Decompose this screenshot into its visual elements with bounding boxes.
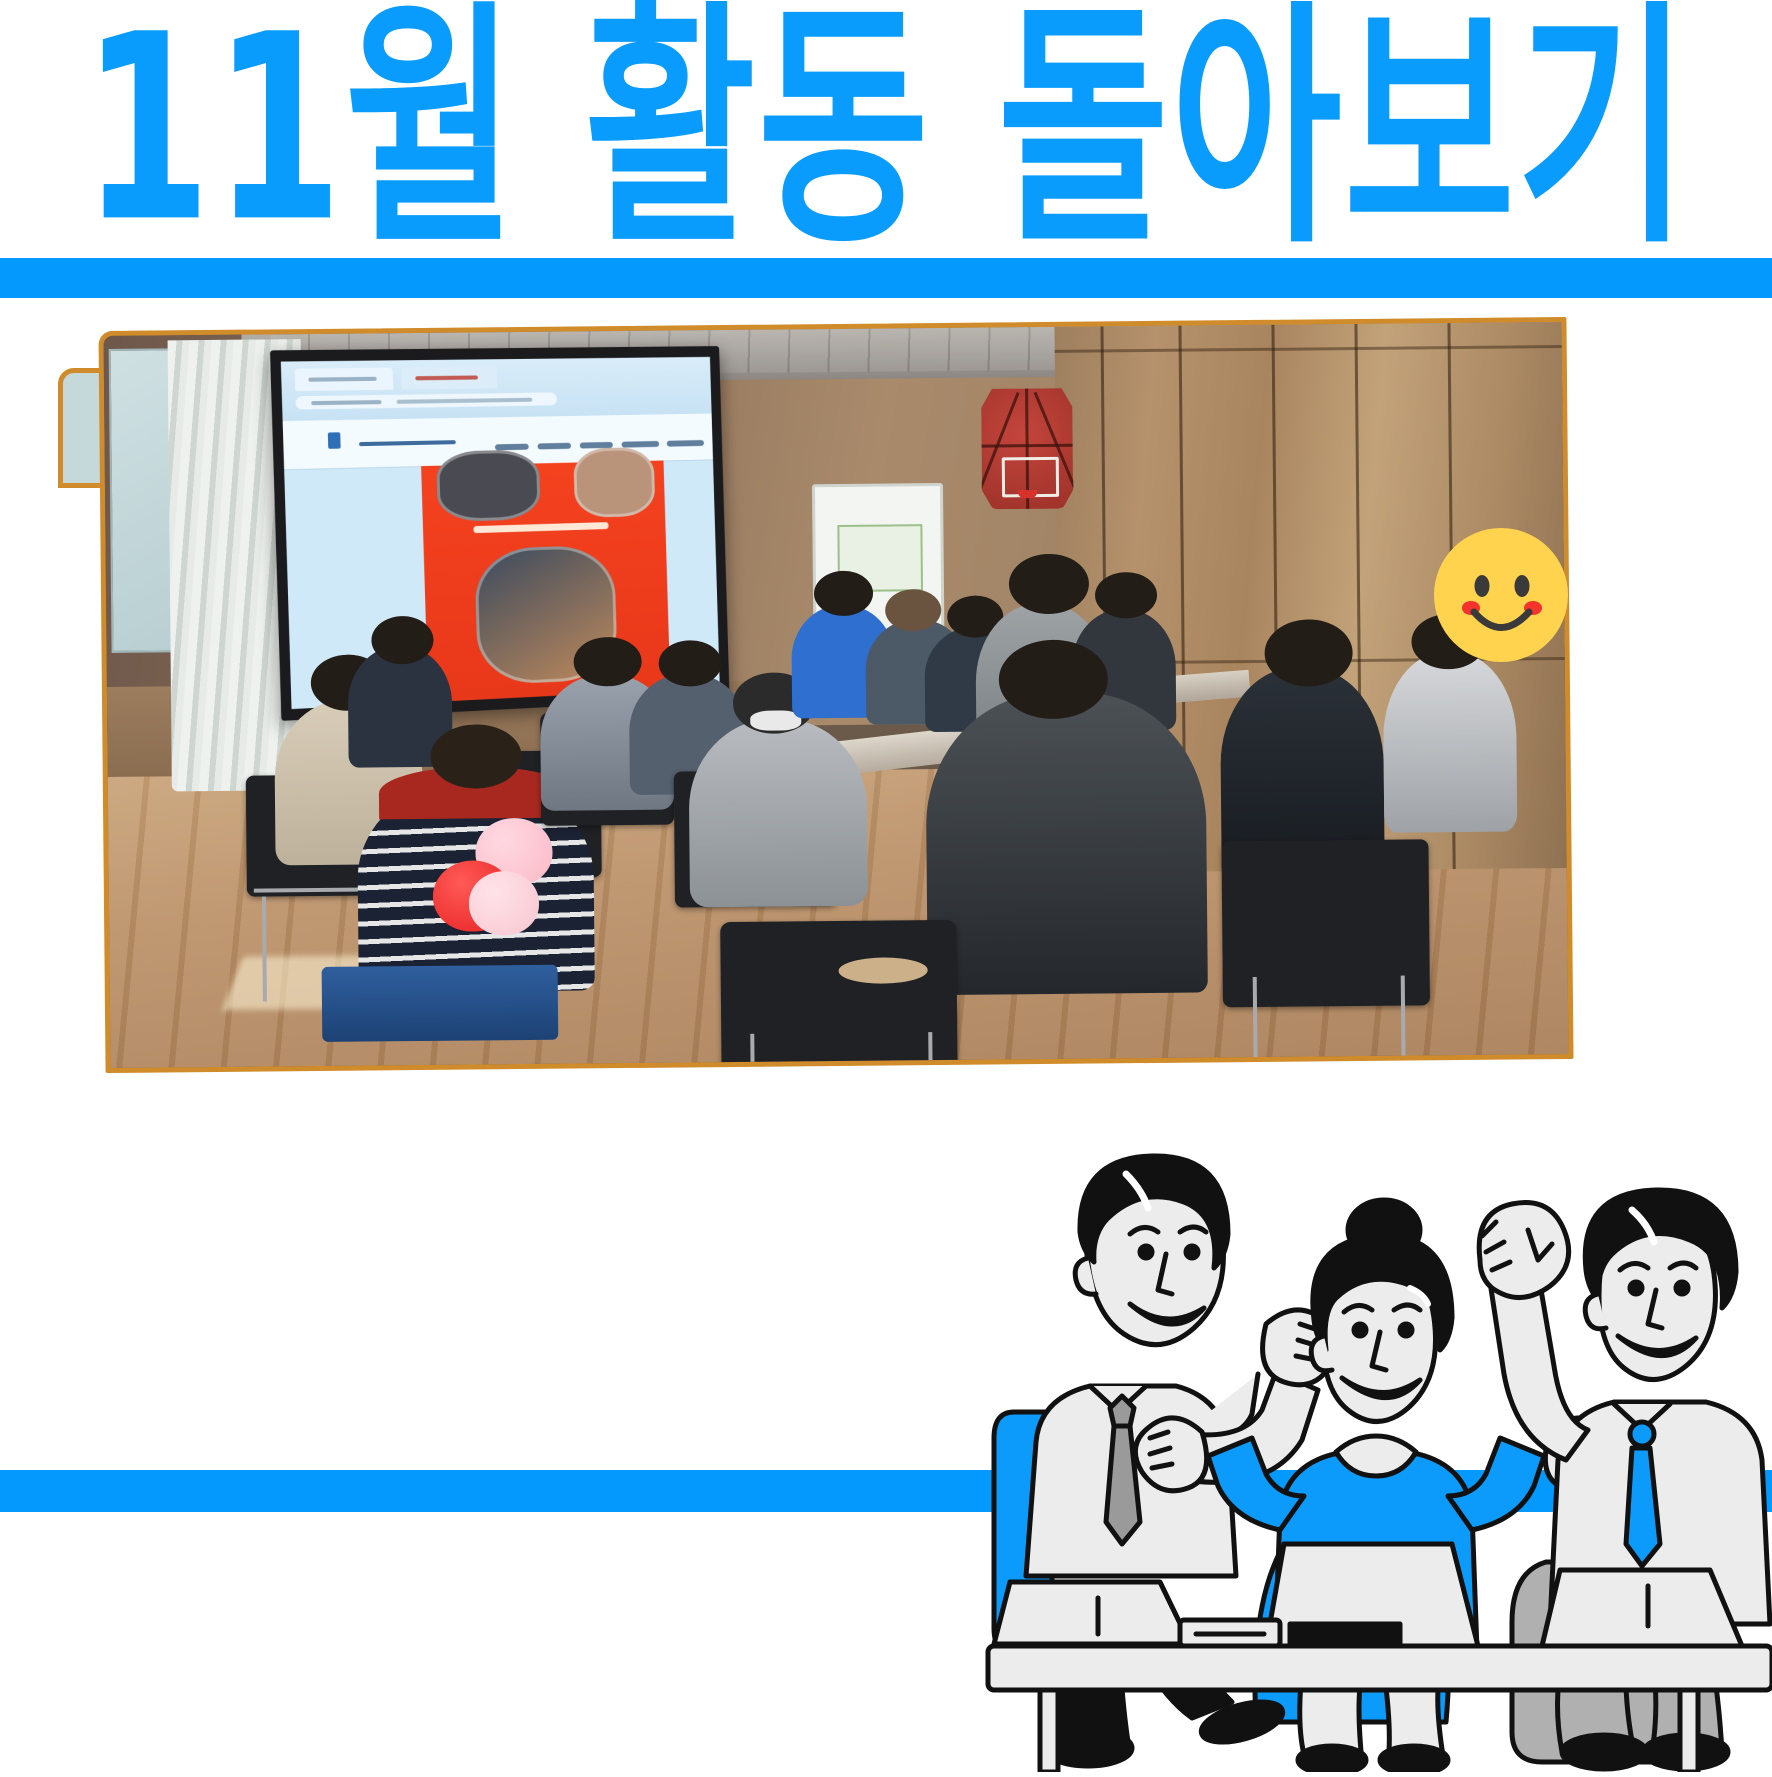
hoop-rim	[1018, 490, 1036, 499]
shoe-center-left	[1298, 1746, 1366, 1772]
site-nav-item	[621, 441, 659, 448]
smiley-eye-right	[1515, 575, 1530, 597]
shoe-center-right	[1380, 1746, 1448, 1772]
top-blue-divider	[0, 258, 1772, 298]
smiley-face-circle	[1434, 528, 1568, 662]
activity-photo	[98, 317, 1573, 1073]
photo-card	[58, 338, 1570, 1080]
smiley-face-sticker	[1434, 528, 1568, 662]
desk-leg-left	[1040, 1690, 1058, 1772]
attendee-far-right	[1382, 651, 1517, 833]
site-nav-item	[537, 443, 571, 450]
tablet-on-desk	[1290, 1624, 1400, 1646]
browser-chrome	[280, 357, 711, 422]
laptop-right	[1542, 1570, 1742, 1646]
fist-center-left	[1135, 1418, 1206, 1491]
page-title: 11월 활동 돌아보기	[82, 1, 1690, 258]
eye-center-2	[1400, 1324, 1412, 1336]
cheering-team-illustration	[980, 1112, 1772, 1772]
arm-right	[1490, 1272, 1588, 1460]
site-nav-item	[667, 440, 704, 447]
attendee-foreground	[925, 691, 1209, 994]
title-area: 11월 활동 돌아보기	[0, 0, 1772, 258]
eye-right-1	[1630, 1282, 1642, 1294]
basketball-hoop	[981, 388, 1074, 509]
promo-caption	[473, 522, 609, 533]
balloon-lightpink	[468, 871, 540, 936]
eye-left-1	[1140, 1246, 1152, 1258]
eye-center-1	[1354, 1324, 1366, 1336]
browser-tab-1	[294, 367, 393, 391]
eye-left-2	[1186, 1246, 1198, 1258]
shoe-right-left	[1562, 1735, 1646, 1769]
blue-stool	[321, 965, 558, 1042]
photo-scene	[98, 317, 1573, 1073]
eye-right-2	[1676, 1282, 1688, 1294]
laptop-left	[994, 1582, 1190, 1644]
desk-leg-right	[1680, 1690, 1698, 1772]
hair-bun-center	[1348, 1200, 1420, 1260]
smiley-eye-left	[1475, 575, 1490, 597]
keyboard-on-desk	[1180, 1620, 1280, 1646]
attendee-gray-jacket	[688, 717, 867, 907]
chair-foreground	[720, 919, 958, 1072]
browser-address-bar	[295, 393, 557, 410]
browser-tab-2	[401, 366, 497, 389]
